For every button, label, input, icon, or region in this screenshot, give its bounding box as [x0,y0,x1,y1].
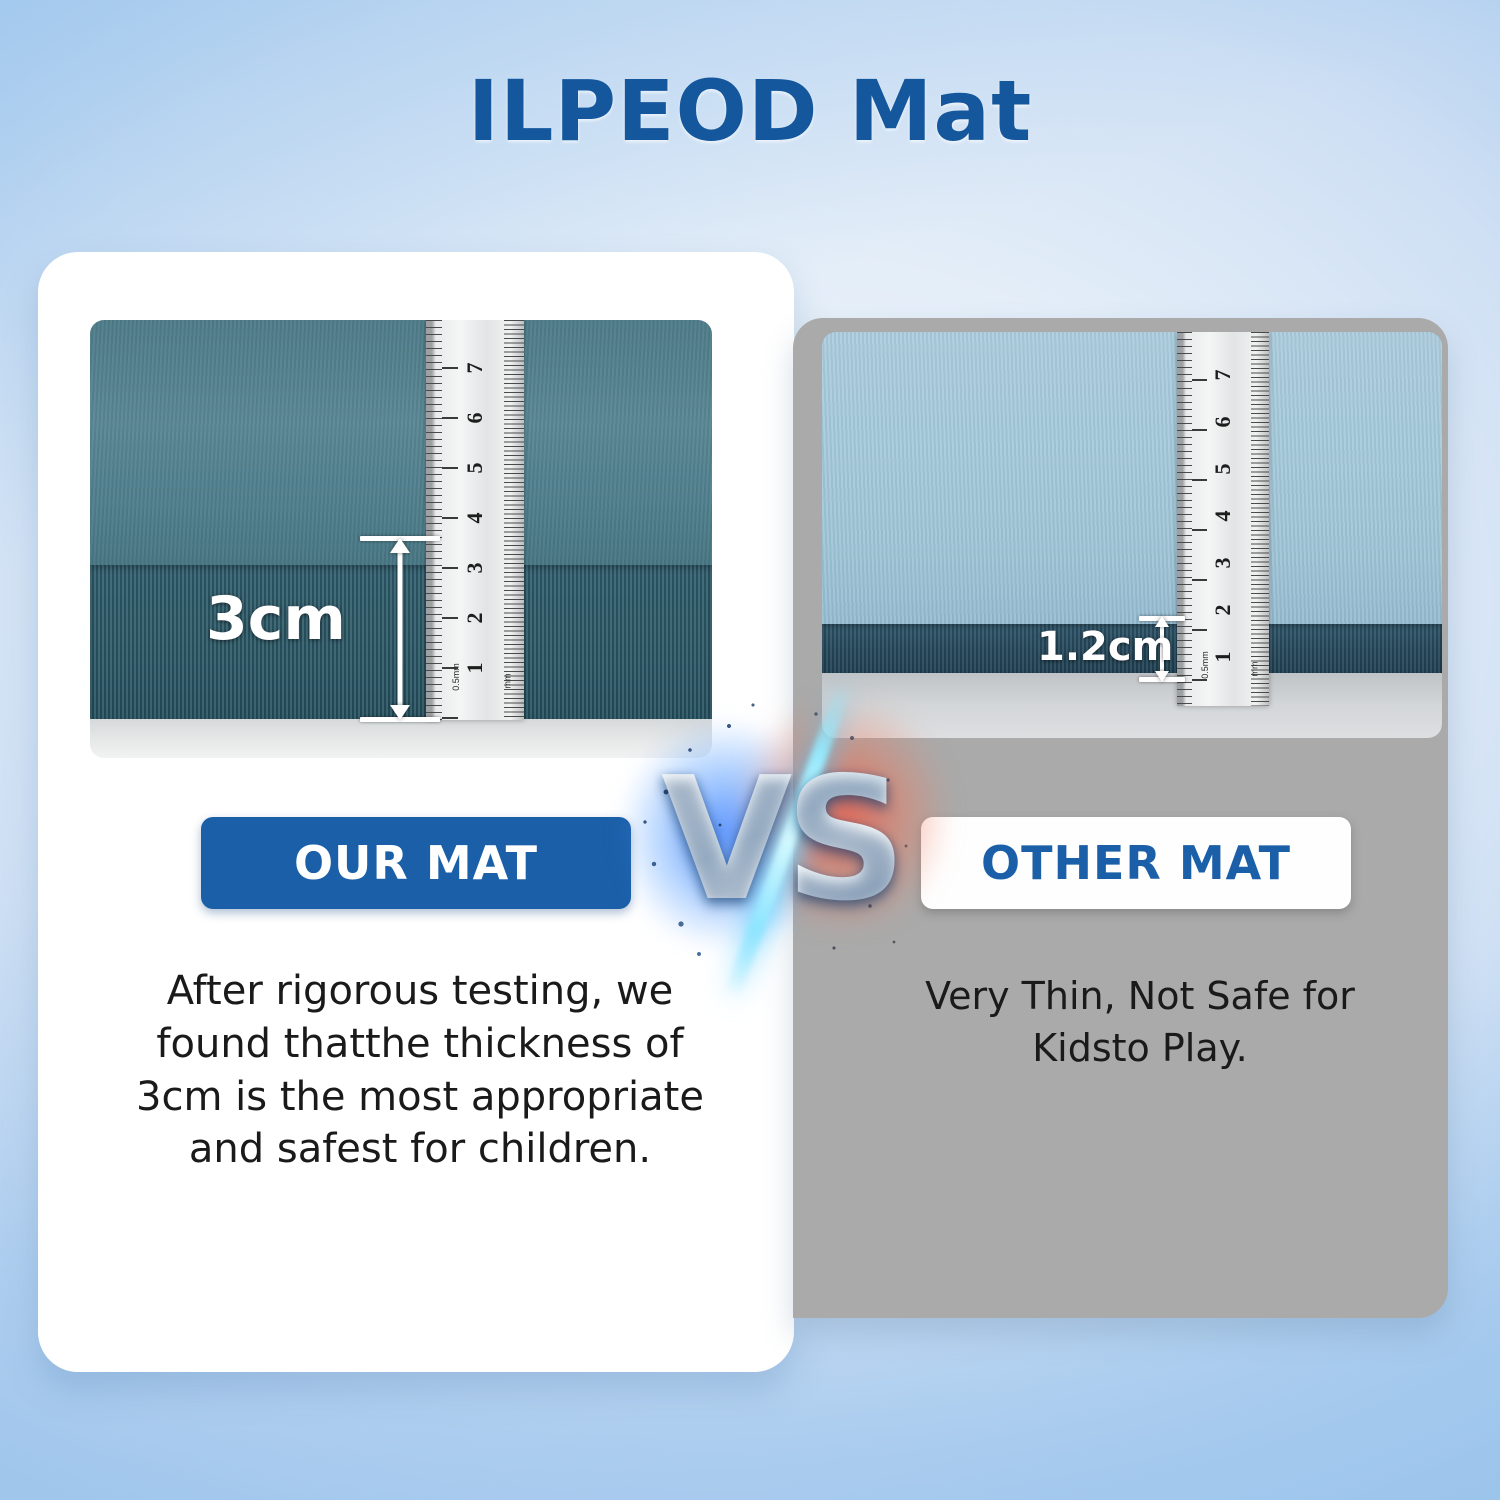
ruler-unit-label: mm [503,674,513,689]
ruler-precision-label: 0.5mm [1200,651,1210,679]
ruler-number: 6 [462,413,488,424]
ruler-number: 1 [462,663,488,674]
mat-surface-left [90,320,712,565]
our-mat-description: After rigorous testing, we found thatthe… [130,965,710,1176]
ruler-unit-label: mm [1250,662,1260,677]
other-mat-badge[interactable]: OTHER MAT [921,817,1351,909]
versus-graphic: VS [630,690,930,990]
ruler-left: 1 2 3 4 5 6 7 0.5mm mm [426,320,524,720]
measurement-label-right: 1.2cm [1037,624,1173,670]
ruler-right-numbers: 1 2 3 4 5 6 7 0.5mm mm [1177,332,1269,706]
ruler-number: 7 [462,363,488,374]
ruler-precision-label: 0.5mm [451,663,461,691]
ruler-number: 5 [1210,464,1236,475]
ruler-number: 5 [462,463,488,474]
ruler-number: 4 [1210,511,1236,522]
versus-label: VS [661,741,899,939]
ruler-number: 3 [462,563,488,574]
ruler-number: 2 [1210,605,1236,616]
page-title: ILPEOD Mat [0,62,1500,160]
our-mat-badge-label: OUR MAT [294,836,538,890]
ruler-number: 1 [1210,652,1236,663]
ruler-number: 7 [1210,370,1236,381]
ruler-number: 2 [462,613,488,624]
ruler-number: 4 [462,513,488,524]
measurement-label-left: 3cm [206,584,346,654]
other-mat-photo: 1 2 3 4 5 6 7 0.5mm mm 1.2cm [822,332,1442,738]
other-mat-badge-label: OTHER MAT [981,836,1291,890]
mat-surface-right [822,332,1442,624]
ruler-number: 3 [1210,558,1236,569]
ruler-number: 6 [1210,417,1236,428]
our-mat-badge[interactable]: OUR MAT [201,817,631,909]
other-mat-description: Very Thin, Not Safe for Kidsto Play. [890,970,1390,1075]
measurement-left [374,536,426,722]
floor-left [90,719,712,758]
our-mat-photo: 1 2 3 4 5 6 7 0.5mm mm 3cm [90,320,712,758]
versus-label-wrap: VS [630,690,930,990]
ruler-right: 1 2 3 4 5 6 7 0.5mm mm [1177,332,1269,706]
ruler-left-numbers: 1 2 3 4 5 6 7 0.5mm mm [426,320,524,720]
